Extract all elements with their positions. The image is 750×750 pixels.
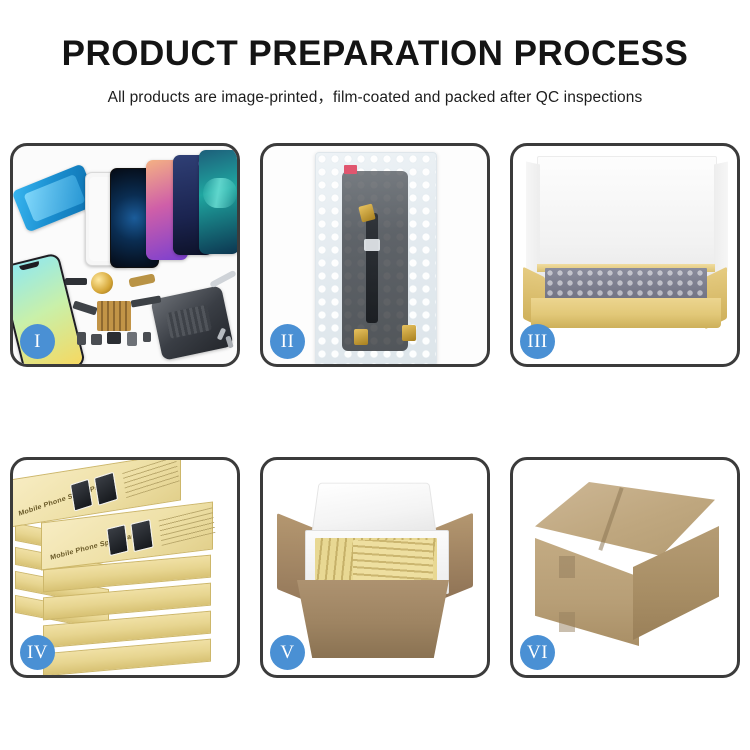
tweezers-tool-image xyxy=(209,270,237,288)
box-print-phone-image xyxy=(130,519,153,552)
step-panel-sealed-carton: VI xyxy=(510,457,740,678)
carton-tape-patch-image xyxy=(559,556,575,578)
process-steps-grid: I II xyxy=(10,143,740,678)
pink-qc-label-image xyxy=(344,165,357,174)
dark-strip-part-image xyxy=(65,278,87,285)
foam-box-lid-image xyxy=(311,483,437,537)
bubble-wrap-bag-image xyxy=(315,152,437,364)
step-panel-foam-carton: V xyxy=(260,457,490,678)
step-badge: II xyxy=(270,324,305,359)
infographic-page: PRODUCT PREPARATION PROCESS All products… xyxy=(0,0,750,750)
small-component-image xyxy=(91,334,102,345)
header: PRODUCT PREPARATION PROCESS All products… xyxy=(0,0,750,107)
page-subtitle: All products are image-printed，film-coat… xyxy=(0,73,750,107)
carton-tape-patch-image xyxy=(559,612,575,632)
small-component-image xyxy=(143,332,151,342)
carton-front-face-image xyxy=(535,538,639,646)
packed-yellow-boxes-image xyxy=(353,540,433,580)
step-panel-bubble-wrap: II xyxy=(260,143,490,367)
box-front-panel-image xyxy=(531,298,721,328)
box-print-phone-image xyxy=(106,524,128,556)
step-badge: VI xyxy=(520,635,555,670)
white-connector-image xyxy=(364,239,380,251)
carton-body-image xyxy=(297,580,449,658)
flex-cable-part-image xyxy=(72,300,97,315)
box-print-phone-image xyxy=(94,472,118,506)
teal-phone-image xyxy=(199,150,237,254)
phone-back-housing-image xyxy=(150,285,233,361)
step-panel-stacked-boxes: Mobile Phone Spare Parts Mobile Phone Sp… xyxy=(10,457,240,678)
step-panel-inner-box: III xyxy=(510,143,740,367)
box-print-phone-image xyxy=(70,479,93,512)
step-badge: V xyxy=(270,635,305,670)
step-panel-products: I xyxy=(10,143,240,367)
page-title: PRODUCT PREPARATION PROCESS xyxy=(0,0,750,73)
box-print-textlines-image xyxy=(159,507,216,546)
small-component-image xyxy=(77,332,86,345)
small-component-image xyxy=(127,332,137,346)
box-print-textlines-image xyxy=(122,460,179,498)
step-badge: III xyxy=(520,324,555,359)
step-badge: IV xyxy=(20,635,55,670)
gold-coil-part-image xyxy=(91,272,113,294)
gold-flex-part-image xyxy=(128,273,155,287)
box-lid-image xyxy=(537,156,717,280)
small-component-image xyxy=(107,332,121,344)
bubble-padding-image xyxy=(545,268,707,302)
gold-connector-image xyxy=(402,325,416,341)
connector-matrix-part-image xyxy=(97,301,131,331)
step-badge: I xyxy=(20,324,55,359)
flex-cable-image xyxy=(366,213,378,323)
gold-connector-image xyxy=(354,329,368,345)
